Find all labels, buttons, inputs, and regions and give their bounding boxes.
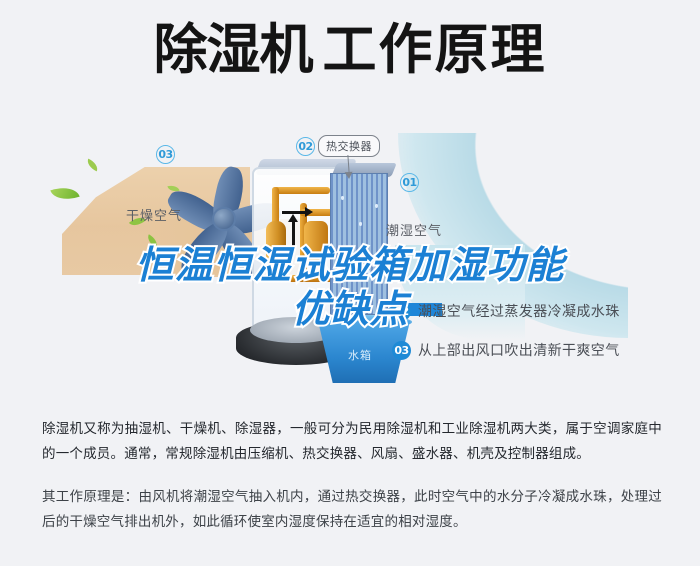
callout-label-dry-air: 干燥空气 (126, 205, 182, 224)
copper-pipe (272, 187, 330, 194)
article-body: 除湿机又称为抽湿机、干燥机、除湿器，一般可分为民用除湿机和工业除湿机两大类，属于… (42, 417, 662, 535)
page-title-part2: 工作原理 (323, 18, 547, 81)
water-tank-label: 水箱 (348, 347, 372, 363)
callout-badge-01: 01 (400, 173, 419, 192)
leaf-icon (85, 159, 100, 172)
callout-label-humid-air: 潮湿空气 (386, 220, 442, 239)
explanation-badge-03: 03 (392, 341, 411, 360)
overlay-headline: 恒温恒湿试验箱加湿功能 优缺点 (0, 243, 700, 331)
flow-arrow-right-icon (282, 211, 306, 214)
body-paragraph-2: 其工作原理是：由风机将潮湿空气抽入机内，通过热交换器，此时空气中的水分子冷凝成水… (42, 485, 662, 535)
callout-badge-02: 02 (296, 137, 315, 156)
overlay-headline-line2: 优缺点 (0, 287, 700, 331)
fan-hub (212, 207, 236, 231)
page-title-part1: 除湿机 (154, 18, 313, 81)
overlay-headline-line1: 恒温恒湿试验箱加湿功能 (0, 243, 700, 287)
page-title: 除湿机工作原理 (0, 22, 700, 79)
callout-label-heat-exchanger: 热交换器 (318, 135, 380, 157)
explanation-line-03: 03 从上部出风口吹出清新干爽空气 (392, 340, 620, 360)
callout-badge-03: 03 (156, 145, 175, 164)
body-paragraph-1: 除湿机又称为抽湿机、干燥机、除湿器，一般可分为民用除湿机和工业除湿机两大类，属于… (42, 417, 662, 467)
leaf-icon (50, 182, 79, 204)
explanation-text-03: 从上部出风口吹出清新干爽空气 (418, 340, 620, 360)
